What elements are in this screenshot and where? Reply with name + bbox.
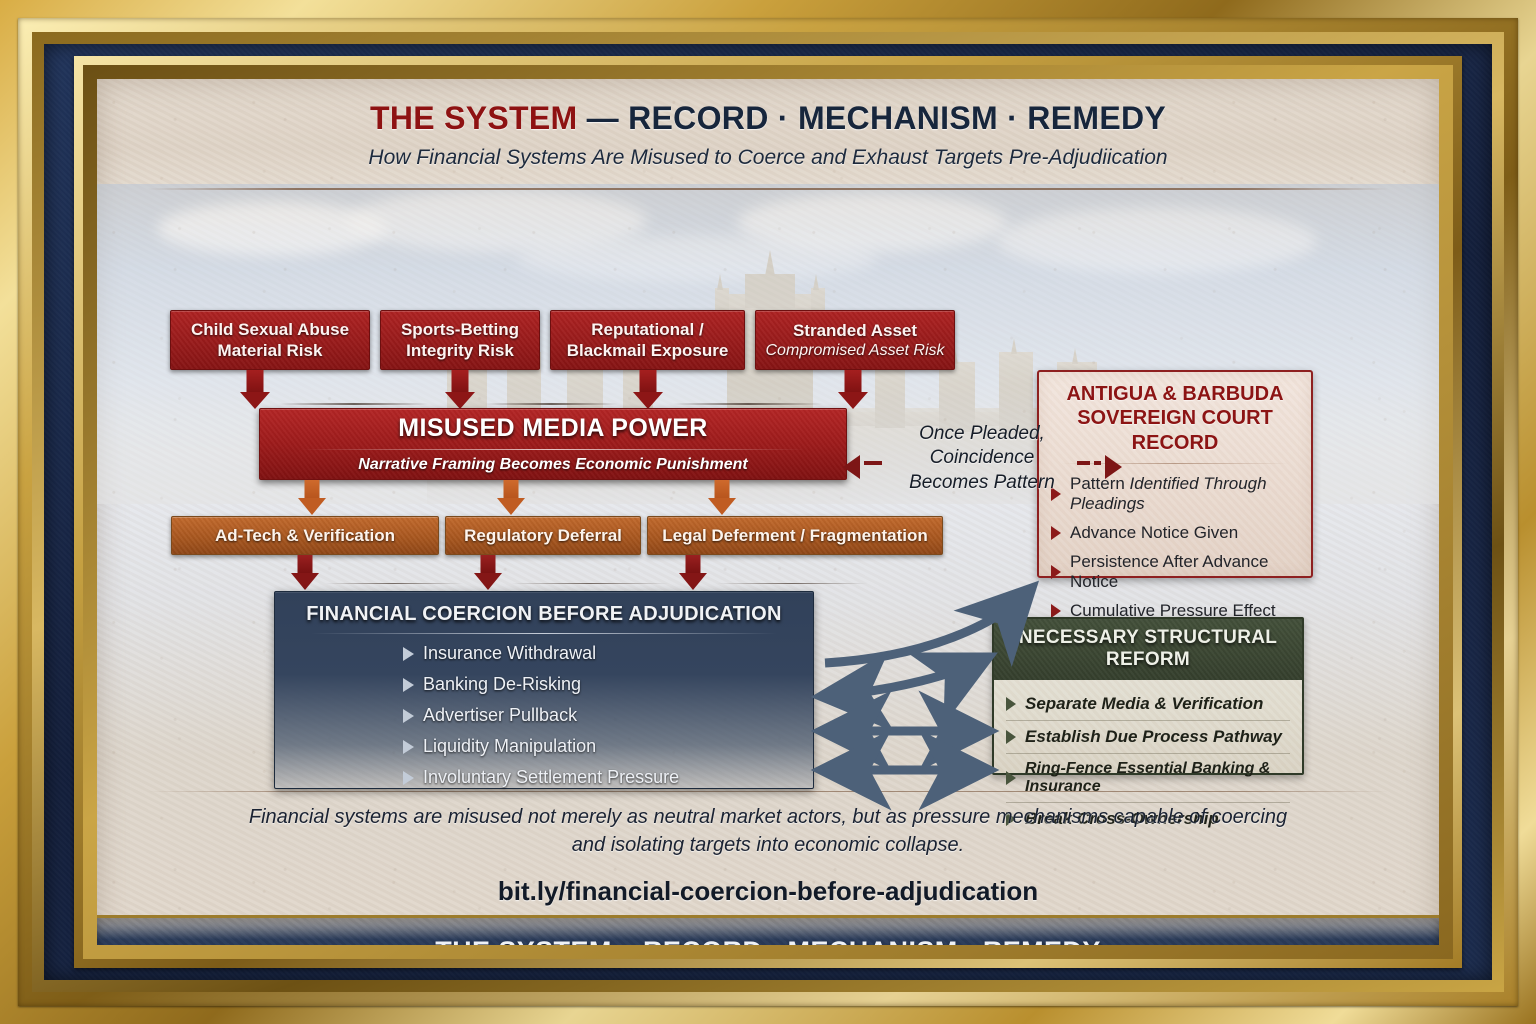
risk-box-line1: Reputational / — [567, 319, 729, 340]
risk-box-stranded-asset[interactable]: Stranded Asset Compromised Asset Risk — [755, 310, 955, 370]
page-title: THE SYSTEM — RECORD · MECHANISM · REMEDY — [97, 100, 1439, 137]
arrow-legal-to-coercion — [678, 555, 708, 591]
triangle-bullet-icon — [1006, 697, 1016, 711]
arrow-coercion-to-reform-1 — [825, 659, 985, 696]
triangle-bullet-icon — [403, 771, 414, 785]
bitly-link[interactable]: bit.ly/financial-coercion-before-adjudic… — [157, 876, 1379, 907]
reform-panel-title: NECESSARY STRUCTURAL REFORM — [994, 619, 1302, 680]
coincidence-connector: Once Pleaded, Coincidence Becomes Patter… — [837, 417, 1127, 507]
reform-item-label: Ring-Fence Essential Banking & Insurance — [1025, 760, 1290, 796]
cloud-shape — [997, 208, 1317, 274]
media-bar-subtitle: Narrative Framing Becomes Economic Punis… — [358, 456, 747, 474]
connector-rule — [325, 583, 463, 584]
connector-rule — [717, 583, 867, 584]
risk-box-line1: Child Sexual Abuse — [191, 319, 349, 340]
footer-title: THE SYSTEM – RECORD · MECHANISM · REMEDY — [97, 936, 1439, 945]
header: THE SYSTEM — RECORD · MECHANISM · REMEDY… — [97, 79, 1439, 170]
list-item: Establish Due Process Pathway — [1006, 720, 1290, 753]
financial-coercion-panel[interactable]: FINANCIAL COERCION BEFORE ADJUDICATION I… — [274, 591, 814, 789]
coercion-list: Insurance Withdrawal Banking De-Risking … — [403, 643, 797, 788]
infographic-canvas: THE SYSTEM — RECORD · MECHANISM · REMEDY… — [97, 79, 1439, 945]
page-subtitle: How Financial Systems Are Misused to Coe… — [97, 146, 1439, 170]
list-item: Banking De-Risking — [403, 674, 797, 695]
list-item: Advance Notice Given — [1051, 523, 1299, 543]
mechanism-label: Regulatory Deferral — [464, 526, 622, 546]
coincidence-line3: Becomes Pattern — [837, 471, 1127, 495]
arrow-media-to-legal — [707, 480, 737, 516]
coercion-item-label: Advertiser Pullback — [423, 705, 577, 726]
triangle-bullet-icon — [1051, 565, 1061, 579]
connector-rule — [279, 403, 429, 405]
list-item: Involuntary Settlement Pressure — [403, 767, 797, 788]
list-item: Separate Media & Verification — [1006, 688, 1290, 720]
dash-segment — [864, 461, 882, 465]
dash-segment — [1077, 461, 1090, 465]
list-item: Ring-Fence Essential Banking & Insurance — [1006, 753, 1290, 802]
coercion-panel-divider — [311, 633, 777, 634]
footer-banner: THE SYSTEM – RECORD · MECHANISM · REMEDY… — [97, 915, 1439, 945]
reform-item-label: Establish Due Process Pathway — [1025, 727, 1282, 747]
arrow-media-to-regulatory — [496, 480, 526, 516]
risk-box-sports-betting[interactable]: Sports-Betting Integrity Risk — [380, 310, 540, 370]
coincidence-line1: Once Pleaded, — [837, 422, 1127, 446]
conclusion-line2: and isolating targets into economic coll… — [157, 831, 1379, 859]
coincidence-line2: Coincidence — [837, 446, 1127, 470]
risk-box-child-sexual-abuse[interactable]: Child Sexual Abuse Material Risk — [170, 310, 370, 370]
connector-rule — [485, 403, 618, 405]
triangle-bullet-icon — [403, 678, 414, 692]
triangle-bullet-icon — [403, 740, 414, 754]
list-item: Advertiser Pullback — [403, 705, 797, 726]
mechanism-label: Ad-Tech & Verification — [215, 526, 395, 546]
media-bar-title: MISUSED MEDIA POWER — [398, 414, 707, 443]
conclusion-text: Financial systems are misused not merely… — [157, 803, 1379, 860]
triangle-bullet-icon — [1006, 730, 1016, 744]
risk-box-line1: Sports-Betting — [401, 319, 519, 340]
list-item: Persistence After Advance Notice — [1051, 552, 1299, 592]
triangle-bullet-icon — [403, 709, 414, 723]
triangle-bullet-icon — [1051, 526, 1061, 540]
header-divider — [147, 188, 1389, 190]
arrow-media-to-adtech — [297, 480, 327, 516]
reform-item-label: Separate Media & Verification — [1025, 694, 1263, 714]
coercion-item-label: Liquidity Manipulation — [423, 736, 596, 757]
arrow-adtech-to-coercion — [290, 555, 320, 591]
mechanism-box-legal-deferment[interactable]: Legal Deferment / Fragmentation — [647, 516, 943, 555]
structural-reform-panel[interactable]: NECESSARY STRUCTURAL REFORM Separate Med… — [992, 617, 1304, 775]
connector-rule — [673, 403, 823, 405]
arrow-risk2-to-media — [445, 370, 475, 409]
coercion-item-label: Involuntary Settlement Pressure — [423, 767, 679, 788]
dash-segment — [1094, 461, 1101, 465]
list-item: Liquidity Manipulation — [403, 736, 797, 757]
triangle-bullet-icon — [403, 647, 414, 661]
arrow-risk4-to-media — [838, 370, 868, 409]
mechanism-label: Legal Deferment / Fragmentation — [662, 526, 927, 546]
connector-rule — [511, 583, 669, 584]
media-bar-divider — [301, 449, 805, 450]
arrow-head-right-icon — [1105, 455, 1122, 479]
court-item-label: Persistence After Advance Notice — [1070, 552, 1299, 592]
risk-box-line2: Material Risk — [191, 340, 349, 361]
coercion-item-label: Insurance Withdrawal — [423, 643, 596, 664]
page-title-accent: THE SYSTEM — [370, 100, 577, 136]
arrow-risk3-to-media — [633, 370, 663, 409]
arrow-regulatory-to-coercion — [473, 555, 503, 591]
list-item: Insurance Withdrawal — [403, 643, 797, 664]
coercion-panel-title: FINANCIAL COERCION BEFORE ADJUDICATION — [291, 603, 797, 626]
page-title-rest: — RECORD · MECHANISM · REMEDY — [577, 100, 1166, 136]
arrow-head-left-icon — [843, 455, 860, 479]
misused-media-power-bar[interactable]: MISUSED MEDIA POWER Narrative Framing Be… — [259, 408, 847, 480]
arrow-risk1-to-media — [240, 370, 270, 409]
risk-box-reputational-blackmail[interactable]: Reputational / Blackmail Exposure — [550, 310, 745, 370]
risk-box-line1: Stranded Asset — [765, 320, 944, 341]
coercion-item-label: Banking De-Risking — [423, 674, 581, 695]
cloud-shape — [517, 236, 877, 282]
mechanism-box-adtech-verification[interactable]: Ad-Tech & Verification — [171, 516, 439, 555]
court-item-label: Advance Notice Given — [1070, 523, 1238, 543]
conclusion-line1: Financial systems are misused not merely… — [157, 803, 1379, 831]
court-title-line1: ANTIGUA & BARBUDA — [1051, 382, 1299, 406]
risk-box-line2: Integrity Risk — [401, 340, 519, 361]
risk-box-line2: Blackmail Exposure — [567, 340, 729, 361]
mechanism-box-regulatory-deferral[interactable]: Regulatory Deferral — [445, 516, 641, 555]
risk-box-line2: Compromised Asset Risk — [765, 341, 944, 361]
triangle-bullet-icon — [1006, 771, 1016, 785]
coincidence-text: Once Pleaded, Coincidence Becomes Patter… — [837, 417, 1127, 495]
